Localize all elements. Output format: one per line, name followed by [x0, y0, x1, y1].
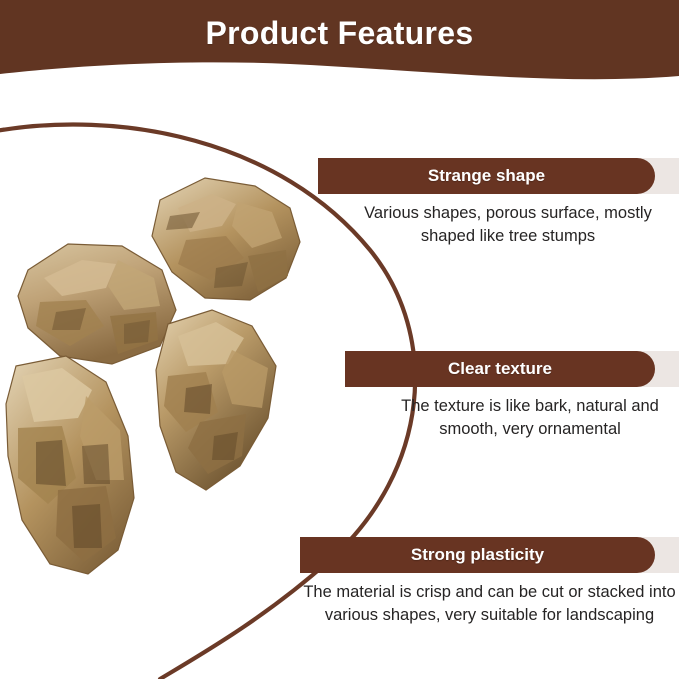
feature-description: Various shapes, porous surface, mostly s… [358, 202, 658, 248]
feature-description: The texture is like bark, natural and sm… [385, 395, 675, 441]
rock-lower-left [6, 356, 134, 574]
feature-title: Strange shape [318, 158, 655, 194]
header-banner: Product Features [0, 0, 679, 95]
product-features-infographic: Product Features [0, 0, 679, 679]
feature-title: Clear texture [345, 351, 655, 387]
rock-upper-right [152, 178, 300, 300]
rock-center [156, 310, 276, 490]
rock-upper-left [18, 244, 176, 364]
feature-pill-clear-texture: Clear texture [345, 351, 679, 387]
feature-description: The material is crisp and can be cut or … [300, 581, 679, 627]
page-title: Product Features [0, 11, 679, 55]
feature-block-strong-plasticity: Strong plasticity The material is crisp … [300, 537, 679, 573]
feature-title: Strong plasticity [300, 537, 655, 573]
product-photo-collage [0, 160, 360, 580]
feature-pill-strong-plasticity: Strong plasticity [300, 537, 679, 573]
rocks-illustration [0, 160, 360, 580]
feature-pill-strange-shape: Strange shape [318, 158, 679, 194]
feature-block-clear-texture: Clear texture The texture is like bark, … [345, 351, 679, 387]
feature-block-strange-shape: Strange shape Various shapes, porous sur… [318, 158, 679, 194]
